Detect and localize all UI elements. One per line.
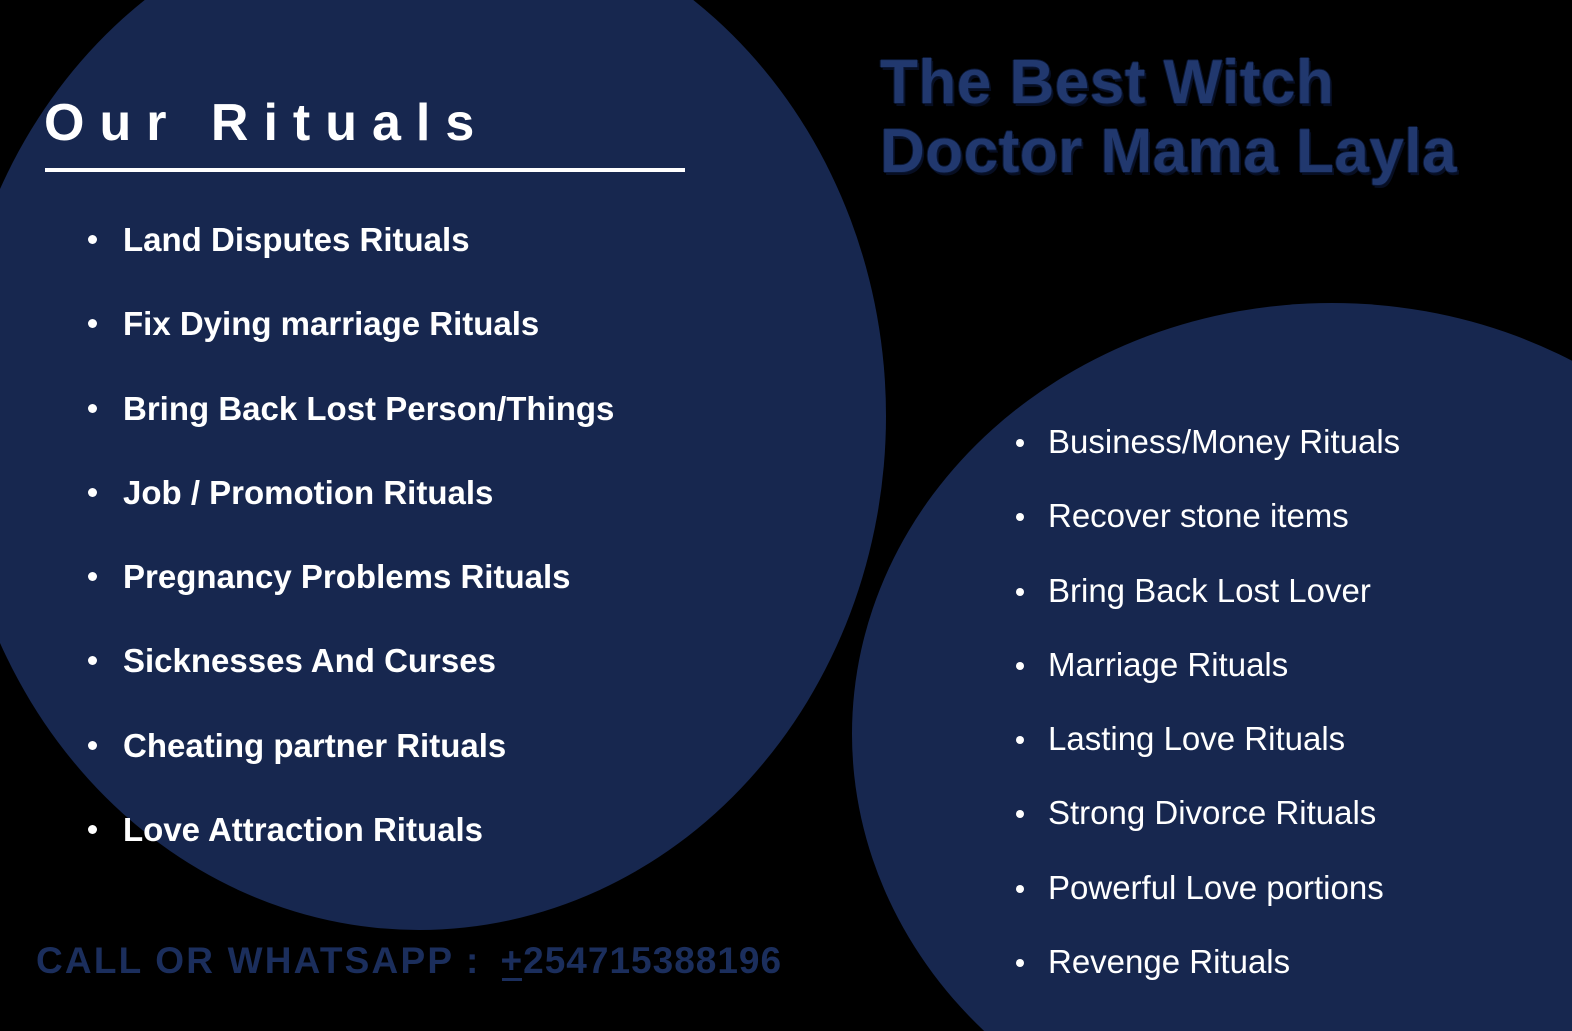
list-item-label: Strong Divorce Rituals	[1048, 794, 1376, 831]
left-panel: Our Rituals Land Disputes Rituals Fix Dy…	[0, 0, 830, 1031]
heading-underline	[45, 168, 685, 172]
list-item-label: Bring Back Lost Lover	[1048, 572, 1371, 609]
bullet-icon	[88, 741, 97, 750]
list-item-label: Lasting Love Rituals	[1048, 720, 1345, 757]
list-item-label: Cheating partner Rituals	[123, 727, 506, 764]
bullet-icon	[1016, 885, 1024, 893]
list-item-label: Business/Money Rituals	[1048, 423, 1400, 460]
list-item: Business/Money Rituals	[1008, 424, 1548, 460]
list-item: Job / Promotion Rituals	[78, 475, 798, 511]
bullet-icon	[1016, 513, 1024, 521]
brand-title: The Best Witch Doctor Mama Layla	[880, 48, 1570, 187]
list-item-label: Love Attraction Rituals	[123, 811, 483, 848]
list-item-label: Recover stone items	[1048, 497, 1349, 534]
list-item: Lasting Love Rituals	[1008, 721, 1548, 757]
contact-bar: CALL OR WHATSAPP : +254715388196	[36, 940, 782, 982]
list-item: Powerful Love portions	[1008, 870, 1548, 906]
list-item: Fix Dying marriage Rituals	[78, 306, 798, 342]
list-item: Marriage Rituals	[1008, 647, 1548, 683]
bullet-icon	[1016, 736, 1024, 744]
list-item-label: Revenge Rituals	[1048, 943, 1290, 980]
contact-label: CALL OR WHATSAPP :	[36, 940, 481, 982]
bullet-icon	[1016, 439, 1024, 447]
bullet-icon	[88, 825, 97, 834]
list-item-label: Pregnancy Problems Rituals	[123, 558, 570, 595]
list-item: Pregnancy Problems Rituals	[78, 559, 798, 595]
bullet-icon	[1016, 810, 1024, 818]
brand-title-line-2: Doctor Mama Layla	[880, 117, 1570, 186]
list-item-label: Fix Dying marriage Rituals	[123, 305, 539, 342]
list-item-label: Bring Back Lost Person/Things	[123, 390, 614, 427]
list-item-label: Marriage Rituals	[1048, 646, 1288, 683]
bullet-icon	[88, 488, 97, 497]
list-item-label: Job / Promotion Rituals	[123, 474, 493, 511]
list-item-label: Powerful Love portions	[1048, 869, 1384, 906]
bullet-icon	[88, 235, 97, 244]
plus-underline	[502, 978, 522, 981]
list-item: Revenge Rituals	[1008, 944, 1548, 980]
contact-phone-number-text: +254715388196	[501, 940, 783, 981]
right-rituals-list: Business/Money Rituals Recover stone ite…	[1008, 424, 1548, 1018]
our-rituals-heading: Our Rituals	[44, 96, 689, 151]
bullet-icon	[1016, 588, 1024, 596]
list-item-label: Sicknesses And Curses	[123, 642, 496, 679]
list-item: Recover stone items	[1008, 498, 1548, 534]
bullet-icon	[1016, 662, 1024, 670]
list-item: Cheating partner Rituals	[78, 728, 798, 764]
list-item: Land Disputes Rituals	[78, 222, 798, 258]
list-item-label: Land Disputes Rituals	[123, 221, 470, 258]
bullet-icon	[88, 656, 97, 665]
contact-phone-number[interactable]: +254715388196	[501, 940, 783, 982]
bullet-icon	[1016, 959, 1024, 967]
list-item: Strong Divorce Rituals	[1008, 795, 1548, 831]
list-item: Love Attraction Rituals	[78, 812, 798, 848]
bullet-icon	[88, 404, 97, 413]
list-item: Bring Back Lost Person/Things	[78, 391, 798, 427]
bullet-icon	[88, 572, 97, 581]
list-item: Bring Back Lost Lover	[1008, 573, 1548, 609]
list-item: Sicknesses And Curses	[78, 643, 798, 679]
left-rituals-list: Land Disputes Rituals Fix Dying marriage…	[78, 222, 798, 896]
brand-title-line-1: The Best Witch	[880, 48, 1570, 117]
bullet-icon	[88, 319, 97, 328]
poster-canvas: Our Rituals Land Disputes Rituals Fix Dy…	[0, 0, 1572, 1031]
